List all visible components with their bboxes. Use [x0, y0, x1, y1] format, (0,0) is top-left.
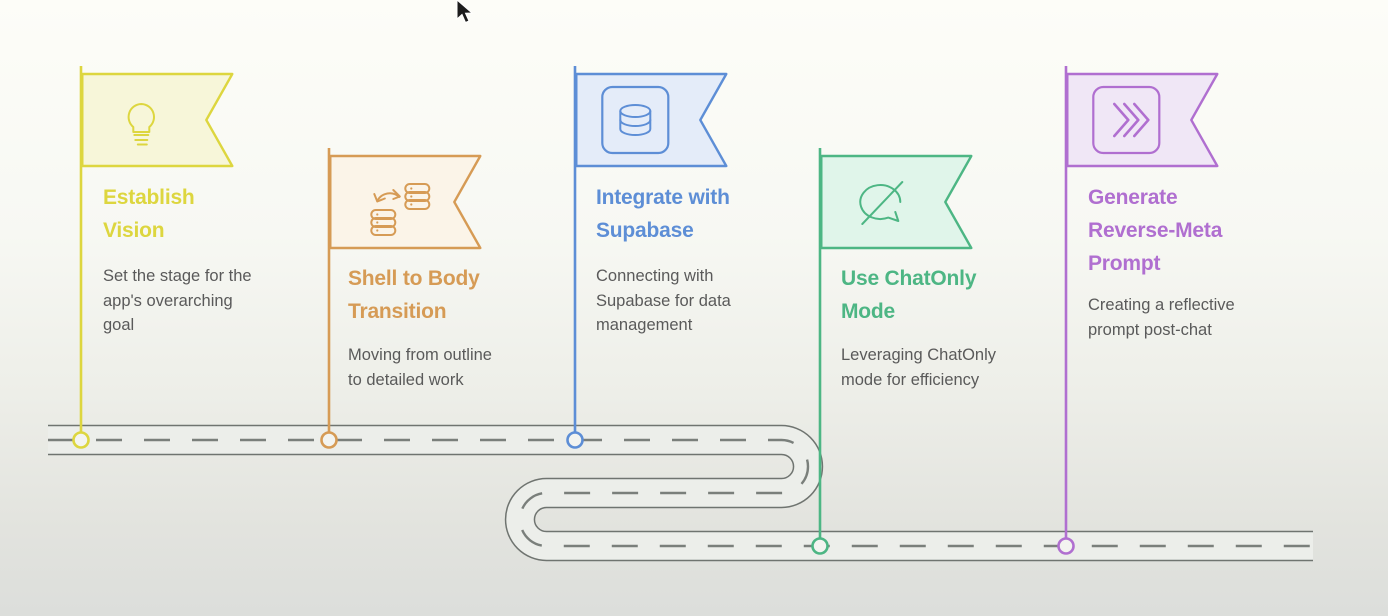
road-marker-shell-to-body-transition[interactable] — [322, 433, 337, 448]
flag-banner-establish-vision — [82, 74, 232, 166]
flag-layer — [0, 0, 1388, 616]
roadmap-diagram: Establish VisionSet the stage for the ap… — [0, 0, 1388, 616]
road-marker-use-chatonly-mode[interactable] — [813, 539, 828, 554]
road-marker-generate-reverse-meta-prompt[interactable] — [1059, 539, 1074, 554]
road-marker-establish-vision[interactable] — [74, 433, 89, 448]
road-marker-integrate-with-supabase[interactable] — [568, 433, 583, 448]
flag-banner-use-chatonly-mode — [821, 156, 971, 248]
mouse-pointer-icon — [452, 0, 478, 30]
